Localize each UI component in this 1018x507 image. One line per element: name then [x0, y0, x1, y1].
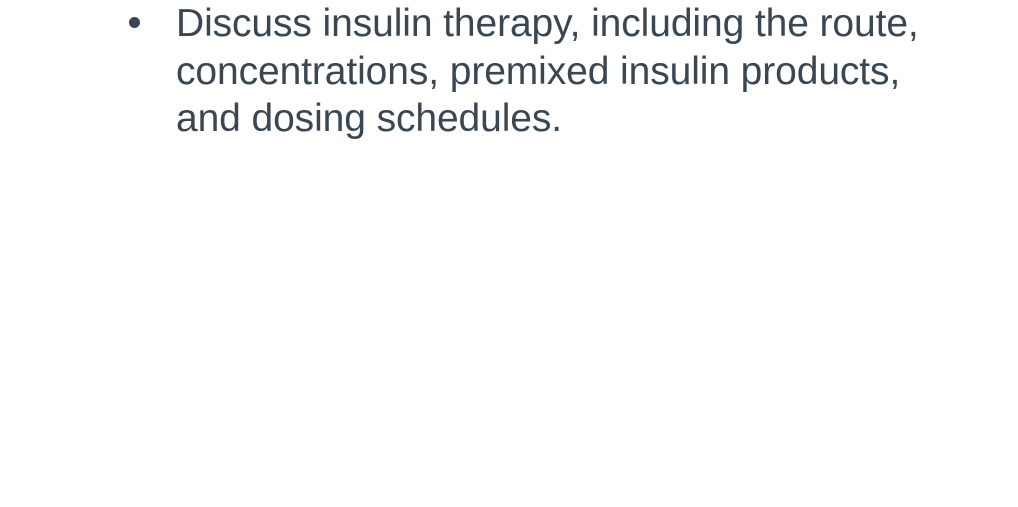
bullet-item-text: Discuss insulin therapy, including the r…	[176, 0, 968, 143]
bullet-dot-icon	[129, 0, 149, 48]
bullet-list: Discuss insulin therapy, including the r…	[0, 0, 1018, 143]
slide-canvas: Discuss insulin therapy, including the r…	[0, 0, 1018, 507]
list-item: Discuss insulin therapy, including the r…	[0, 0, 1018, 143]
slide-content-body: Discuss insulin therapy, including the r…	[0, 0, 1018, 143]
empty-content-area	[0, 200, 1018, 507]
